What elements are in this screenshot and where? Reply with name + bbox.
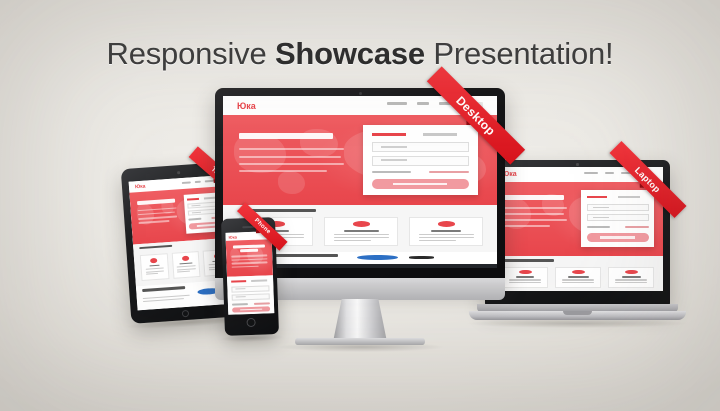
remember-me-checkbox[interactable]	[587, 226, 611, 228]
tab-login[interactable]	[251, 279, 267, 282]
features-section	[492, 256, 663, 291]
features-heading	[139, 245, 172, 250]
hero-title	[239, 133, 332, 139]
forgot-password-link[interactable]	[429, 171, 468, 173]
device-laptop[interactable]: Юка	[485, 160, 670, 335]
email-field[interactable]	[372, 142, 469, 152]
password-field[interactable]	[587, 214, 649, 221]
hero-section	[223, 115, 497, 205]
page-title: Responsive Showcase Presentation!	[0, 37, 720, 71]
feature-card	[324, 217, 398, 246]
tab-register[interactable]	[587, 196, 608, 199]
forgot-password-link[interactable]	[254, 303, 271, 305]
password-field[interactable]	[231, 293, 270, 300]
laptop-camera-icon	[576, 163, 579, 166]
remember-me-checkbox[interactable]	[189, 218, 202, 220]
monitor-stand-foot	[295, 338, 425, 345]
client-logo-ford	[357, 255, 398, 261]
email-field[interactable]	[231, 285, 270, 292]
features-heading	[502, 259, 553, 262]
tab-login[interactable]	[423, 133, 458, 136]
monitor-stand-neck	[333, 299, 387, 342]
nav-link-prices[interactable]	[195, 180, 201, 182]
forgot-password-link[interactable]	[625, 226, 649, 228]
client-logo-secondary	[409, 256, 434, 259]
signup-form[interactable]	[227, 275, 274, 315]
title-emphasis: Showcase	[275, 36, 425, 71]
feature-card	[608, 267, 654, 289]
submit-button[interactable]	[232, 306, 271, 313]
feature-card	[502, 267, 548, 289]
signup-form[interactable]	[581, 190, 655, 247]
site-logo[interactable]: Юка	[229, 234, 238, 239]
remember-me-checkbox[interactable]	[372, 171, 411, 173]
hero-section	[492, 182, 663, 256]
nav-link-prices[interactable]	[417, 102, 429, 105]
tab-register[interactable]	[372, 133, 407, 136]
mock-website-phone: Юка	[225, 231, 274, 315]
monitor-camera-icon	[359, 92, 362, 95]
tab-register[interactable]	[187, 198, 199, 201]
nav-link-about[interactable]	[182, 181, 191, 184]
submit-button[interactable]	[587, 233, 649, 242]
tab-login[interactable]	[618, 196, 640, 199]
feature-card	[171, 251, 200, 279]
nav-link-about[interactable]	[387, 102, 407, 105]
clients-heading	[142, 286, 185, 291]
remember-me-checkbox[interactable]	[232, 303, 249, 305]
feature-card	[140, 253, 169, 281]
email-field[interactable]	[587, 204, 649, 211]
device-phone[interactable]: Юка	[221, 217, 279, 336]
submit-button[interactable]	[372, 179, 469, 190]
title-part-one: Responsive	[107, 36, 275, 71]
password-field[interactable]	[372, 156, 469, 166]
tablet-camera-icon	[177, 171, 180, 174]
nav-link-about[interactable]	[584, 172, 598, 175]
laptop-trackpad-notch	[563, 311, 592, 315]
tab-register[interactable]	[231, 280, 247, 283]
hero-section	[226, 239, 273, 277]
site-logo[interactable]: Юка	[135, 183, 146, 190]
feature-card	[555, 267, 601, 289]
nav-link-prices[interactable]	[605, 172, 614, 175]
presentation-stage: Responsive Showcase Presentation! Юка	[0, 0, 720, 411]
feature-card	[409, 217, 483, 246]
signup-form[interactable]	[363, 125, 478, 195]
title-part-two: Presentation!	[425, 36, 613, 71]
phone-screen[interactable]: Юка	[225, 231, 274, 315]
hero-title	[502, 195, 564, 200]
site-logo[interactable]: Юка	[237, 101, 256, 111]
